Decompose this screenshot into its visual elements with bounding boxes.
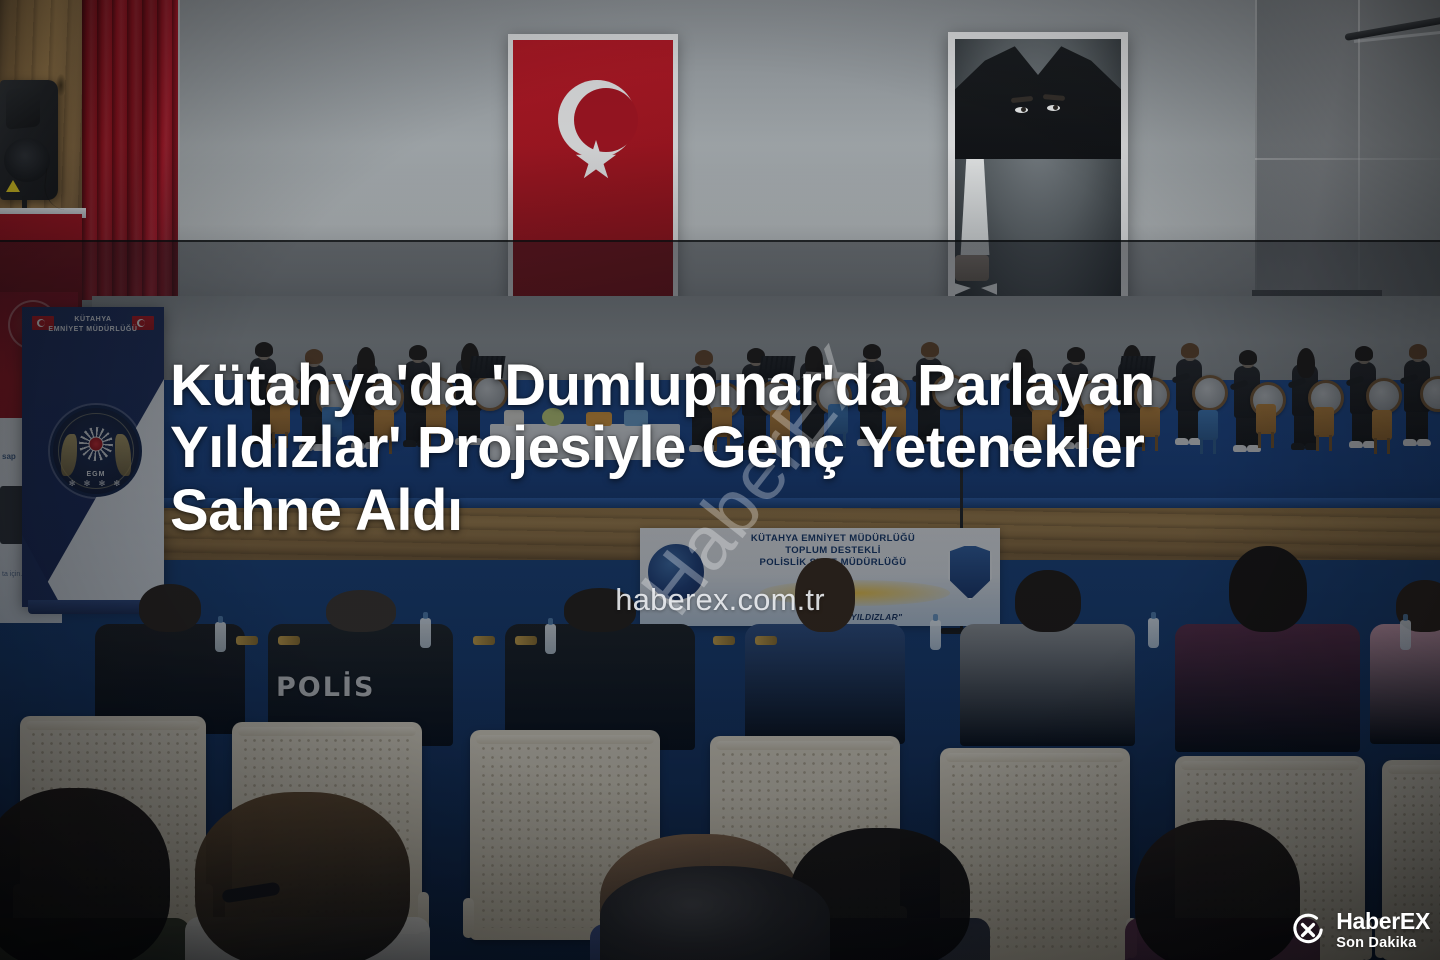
standee-line2: EMNİYET MÜDÜRLÜĞÜ xyxy=(22,325,164,335)
speaker-port xyxy=(6,86,40,130)
water-bottle xyxy=(420,618,431,648)
stage-chair xyxy=(1314,407,1334,437)
overlay-divider-line xyxy=(0,240,1440,242)
performer-legs xyxy=(1406,408,1428,442)
performer-hair xyxy=(1409,344,1427,359)
audience-head xyxy=(1135,820,1300,960)
circle-x-icon xyxy=(1289,911,1327,949)
wall-seam xyxy=(1255,0,1257,330)
seal-label: EGM xyxy=(53,471,139,478)
uniform-epaulette xyxy=(236,636,258,645)
stage-banner-line2: TOPLUM DESTEKLİ xyxy=(724,545,942,557)
chair-top-rail xyxy=(26,721,200,730)
egm-police-seal-icon: EGM ✻ ✻ ✻ ✻ xyxy=(50,405,142,497)
wall-seam xyxy=(1358,0,1360,330)
water-bottle xyxy=(1400,620,1411,650)
chair-armrest xyxy=(463,898,474,938)
audience-head xyxy=(0,788,170,960)
logo-subtitle: Son Dakika xyxy=(1336,936,1430,951)
police-rollup-banner: KÜTAHYA EMNİYET MÜDÜRLÜĞÜ EGM ✻ ✻ ✻ ✻ xyxy=(22,307,164,607)
seal-dots: ✻ ✻ ✻ ✻ xyxy=(53,479,139,488)
portrait-pupil-left xyxy=(1021,107,1026,112)
wall-seam xyxy=(1255,158,1440,160)
page-title: Kütahya'da 'Dumlupınar'da Parlayan Yıldı… xyxy=(170,355,1280,543)
frame-drum xyxy=(1366,378,1402,414)
standee-heading: KÜTAHYA EMNİYET MÜDÜRLÜĞÜ xyxy=(22,315,164,335)
site-url-watermark: haberex.com.tr xyxy=(0,582,1440,618)
uniform-epaulette xyxy=(473,636,495,645)
uniform-epaulette xyxy=(713,636,735,645)
audience-torso xyxy=(1175,624,1360,752)
site-logo[interactable]: HaberEX Son Dakika xyxy=(1289,910,1430,951)
chair-top-rail xyxy=(1388,765,1440,774)
performer-legs xyxy=(1352,410,1374,444)
chair-top-rail xyxy=(1181,761,1359,770)
seal-center xyxy=(89,437,104,452)
performer-shoe xyxy=(1417,439,1431,446)
performer-legs xyxy=(1294,412,1316,446)
portrait-suit xyxy=(955,39,1121,159)
water-bottle xyxy=(215,622,226,652)
uniform-epaulette xyxy=(515,636,537,645)
audience-torso xyxy=(960,624,1135,746)
ataturk-portrait xyxy=(955,39,1121,305)
performer-hair xyxy=(1297,348,1315,378)
uniform-polis-text: POLİS xyxy=(276,672,375,703)
chair-top-rail xyxy=(238,727,416,736)
uniform-epaulette xyxy=(278,636,300,645)
portrait-pupil-right xyxy=(1053,105,1058,110)
auditorium-wall xyxy=(0,0,1440,330)
performer-shoe xyxy=(1291,443,1305,450)
performer-shoe xyxy=(1403,439,1417,446)
performer-hair xyxy=(1355,346,1373,361)
wall-right-panel xyxy=(1255,0,1440,330)
logo-title-haber: Haber xyxy=(1336,908,1400,934)
news-image-card: KÜTAHYA EMNİYET MÜDÜRLÜĞÜ TOPLUM DESTEKL… xyxy=(0,0,1440,960)
wall-seam xyxy=(178,0,180,300)
standee-line1: KÜTAHYA xyxy=(22,315,164,325)
water-bottle xyxy=(930,620,941,650)
stage-chair xyxy=(1372,410,1392,440)
water-bottle xyxy=(545,624,556,654)
water-bottle xyxy=(1148,618,1159,648)
speaker-brand-icon xyxy=(6,180,20,192)
speaker-woofer xyxy=(4,138,50,182)
stage-curtain xyxy=(82,0,178,300)
performer-shoe xyxy=(1349,441,1363,448)
logo-text-group: HaberEX Son Dakika xyxy=(1336,910,1430,951)
chair-top-rail xyxy=(476,735,654,744)
uniform-epaulette xyxy=(755,636,777,645)
crescent-cutout xyxy=(574,88,638,152)
chair-top-rail xyxy=(716,741,894,750)
audience-head xyxy=(195,792,410,960)
portrait-bowtie xyxy=(955,281,997,297)
chair-top-rail xyxy=(946,753,1124,762)
portrait-neck xyxy=(955,255,989,281)
logo-title: HaberEX xyxy=(1336,910,1430,933)
fur-hood xyxy=(600,866,830,960)
logo-title-ex: EX xyxy=(1400,908,1430,934)
